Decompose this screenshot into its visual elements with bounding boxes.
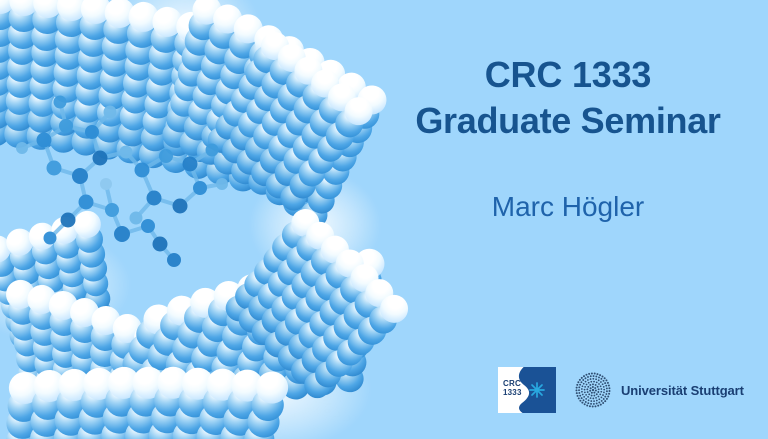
lipid-bead (58, 259, 88, 289)
lipid-bead (245, 403, 283, 439)
membrane-layer (0, 0, 420, 439)
lipid-bead (6, 407, 39, 439)
lipid-bead (193, 324, 230, 361)
lipid-bead (230, 145, 261, 176)
lipid-bead (143, 394, 175, 426)
lipid-bead (352, 81, 391, 120)
lipid-bead (70, 298, 99, 327)
lipid-bead (339, 92, 378, 131)
lipid-bead (143, 435, 178, 439)
lipid-bead (234, 112, 266, 144)
lipid-bead (268, 308, 303, 343)
lipid-bead (170, 418, 206, 439)
lipid-bead (123, 384, 160, 421)
lipid-bead (216, 72, 249, 105)
lipid-bead (241, 52, 277, 88)
lipid-bead (290, 291, 328, 329)
lipid-bead (328, 308, 366, 346)
lipid-bead (289, 91, 327, 129)
lipid-bead (186, 283, 225, 322)
lipid-bead (101, 30, 133, 62)
lipid-bead (243, 45, 277, 79)
lipid-chain (234, 368, 292, 439)
lipid-bead (0, 17, 14, 47)
lipid-bead (264, 324, 299, 359)
lipid-bead (170, 387, 205, 422)
lipid-bead (96, 390, 133, 427)
artwork-glow (180, 330, 370, 439)
lipid-bead (0, 101, 11, 129)
lipid-bead (212, 73, 247, 108)
lipid-bead (103, 375, 141, 413)
lipid-bead (260, 327, 296, 363)
lipid-bead (265, 52, 303, 90)
lipid-bead (83, 284, 112, 313)
lipid-chain (118, 364, 167, 439)
lipid-bead (70, 331, 98, 359)
lipid-bead (293, 155, 330, 192)
lipid-bead (71, 396, 98, 423)
lipid-chain (198, 270, 271, 411)
lipid-bead (280, 303, 317, 340)
lipid-bead (285, 58, 322, 95)
lipid-bead (249, 79, 286, 116)
lipid-chain (171, 276, 248, 417)
lipid-chain (263, 78, 361, 200)
lipid-bead (287, 129, 324, 166)
lipid-bead (90, 321, 120, 351)
lipid-bead (319, 300, 353, 334)
lipid-chain (70, 298, 99, 433)
lipid-bead (185, 133, 216, 164)
lipid-bead (71, 363, 99, 391)
lipid-bead (202, 33, 237, 68)
lipid-bead (197, 382, 232, 417)
lipid-bead (306, 366, 338, 398)
lipid-bead (332, 68, 371, 107)
lipid-bead (143, 393, 179, 429)
lipid-bead (33, 349, 63, 379)
lipid-bead (233, 68, 270, 105)
lipid-bead (272, 291, 308, 327)
lipid-bead (230, 11, 266, 47)
lipid-bead (213, 334, 249, 370)
lipid-bead (90, 337, 119, 366)
lipid-bead (36, 381, 65, 410)
lipid-bead (286, 171, 321, 206)
lipid-bead (211, 105, 243, 137)
lipid-bead (119, 434, 149, 439)
lipid-bead (2, 305, 33, 336)
lipid-bead (280, 73, 317, 110)
lipid-bead (50, 107, 79, 136)
lipid-bead (211, 109, 246, 144)
lipid-bead (169, 60, 201, 92)
lipid-bead (281, 259, 318, 296)
artwork-glow (0, 230, 130, 340)
lipid-bead (117, 345, 156, 384)
lipid-chain (225, 264, 294, 406)
presentation-slide: CRC 1333 Graduate Seminar Marc Högler CR… (0, 0, 768, 439)
lipid-bead (149, 400, 185, 436)
lipid-bead (239, 123, 274, 158)
lipid-bead (0, 0, 16, 15)
lipid-bead (171, 71, 204, 104)
lipid-bead (209, 276, 248, 315)
lipid-bead (121, 67, 152, 98)
lipid-bead (230, 278, 266, 314)
lipid-bead (110, 360, 148, 398)
lipid-chain (137, 5, 184, 164)
lipid-bead (276, 216, 315, 255)
lipid-bead (222, 22, 256, 56)
lipid-chain (26, 284, 68, 421)
lipid-chain (211, 21, 287, 174)
lipid-bead (5, 103, 34, 132)
lipid-bead (105, 393, 135, 423)
lipid-bead (7, 294, 39, 326)
lipid-bead (317, 154, 354, 191)
lipid-bead (284, 168, 320, 204)
lipid-bead (103, 0, 136, 29)
lipid-bead (109, 345, 140, 376)
lipid-bead (286, 266, 324, 304)
lipid-chain (72, 366, 117, 439)
dotted-circle-icon (574, 371, 612, 409)
lipid-bead (189, 99, 221, 131)
lipid-bead (325, 267, 360, 302)
lipid-bead (303, 142, 340, 179)
lipid-bead (39, 279, 69, 309)
lipid-bead (3, 226, 36, 259)
lipid-bead (121, 417, 151, 439)
lipid-chain (164, 365, 217, 439)
lipid-bead (108, 361, 138, 391)
lipid-bead (193, 64, 227, 98)
lipid-bead (249, 93, 284, 128)
lipid-bead (210, 1, 246, 37)
membrane-layer (0, 0, 420, 439)
lipid-bead (181, 111, 214, 144)
lipid-bead (167, 435, 203, 439)
lipid-bead (176, 371, 212, 407)
lipid-bead (277, 275, 313, 311)
lipid-bead (272, 39, 310, 77)
lipid-bead (310, 168, 346, 204)
lipid-bead (95, 114, 125, 144)
lipid-bead (197, 48, 231, 82)
crc-1333-logo: CRC 1333 (498, 367, 556, 413)
lipid-bead (328, 250, 363, 285)
lipid-bead (181, 355, 217, 391)
lipid-bead (72, 412, 99, 439)
lipid-bead (214, 89, 246, 121)
lipid-bead (120, 435, 155, 439)
lipid-bead (220, 39, 253, 72)
lipid-bead (126, 17, 158, 49)
lipid-bead (123, 51, 155, 83)
lipid-bead (315, 230, 354, 269)
lipid-bead (0, 291, 30, 323)
lipid-bead (299, 367, 335, 403)
lipid-bead (286, 353, 322, 389)
lipid-bead (124, 34, 156, 66)
lipid-bead (0, 51, 13, 81)
lipid-bead (150, 346, 183, 379)
lipid-bead (268, 160, 303, 195)
lipid-bead (130, 364, 167, 401)
lipid-bead (310, 356, 347, 393)
lipid-bead (167, 371, 201, 405)
lipid-bead (231, 83, 266, 118)
lipid-bead (216, 129, 250, 163)
lipid-bead (205, 155, 236, 186)
lipid-bead (297, 77, 335, 115)
lipid-bead (228, 286, 266, 324)
lipid-chain (279, 254, 340, 396)
lipid-bead (160, 144, 190, 174)
lipid-bead (167, 87, 200, 120)
lipid-bead (241, 62, 274, 95)
lipid-bead (63, 289, 92, 318)
crc-logo-text: CRC 1333 (503, 379, 522, 397)
lipid-bead (300, 279, 338, 317)
lipid-bead (287, 115, 323, 151)
lipid-bead (229, 361, 264, 396)
lipid-bead (51, 339, 80, 368)
lipid-bead (291, 229, 330, 268)
lipid-bead (293, 100, 330, 137)
lipid-bead (364, 300, 403, 339)
lipid-bead (72, 209, 102, 239)
lipid-chain (302, 289, 414, 400)
lipid-bead (224, 384, 262, 422)
lipid-chain (4, 278, 51, 415)
lipid-chain (25, 0, 64, 145)
lipid-bead (73, 93, 103, 123)
lipid-bead (292, 156, 328, 192)
lipid-bead (164, 387, 197, 420)
lipid-bead (149, 377, 185, 413)
lipid-bead (70, 314, 99, 343)
lipid-bead (352, 247, 387, 282)
lipid-bead (324, 282, 363, 321)
lipid-bead (51, 74, 81, 104)
lipid-bead (198, 308, 236, 346)
lipid-bead (100, 47, 131, 78)
lipid-bead (0, 232, 14, 265)
lipid-bead (0, 118, 10, 146)
lipid-bead (233, 106, 269, 142)
lipid-chain (177, 1, 246, 155)
lipid-bead (304, 305, 342, 343)
lipid-bead (321, 117, 359, 155)
lipid-chain (236, 216, 340, 334)
lipid-bead (35, 365, 65, 395)
lipid-bead (226, 98, 261, 133)
lipid-chain (289, 274, 399, 387)
lipid-chain (2, 371, 42, 439)
lipid-bead (305, 70, 343, 108)
lipid-bead (317, 319, 355, 357)
lipid-bead (187, 116, 218, 147)
lipid-chain (306, 250, 363, 392)
lipid-bead (272, 253, 310, 291)
lipid-bead (180, 299, 219, 338)
lipid-bead (306, 64, 345, 103)
lipid-bead (262, 265, 299, 302)
slide-subtitle: Graduate Seminar (392, 98, 744, 144)
lipid-bead (197, 401, 234, 438)
lipid-bead (30, 235, 62, 267)
lipid-chain (144, 283, 225, 423)
lipid-bead (256, 302, 293, 339)
lipid-bead (55, 7, 87, 39)
lipid-bead (243, 290, 280, 327)
lipid-bead (7, 389, 41, 423)
lipid-bead (0, 247, 18, 280)
lipid-bead (273, 78, 311, 116)
lipid-bead (138, 139, 168, 169)
lipid-bead (218, 318, 255, 355)
lipid-bead (296, 254, 335, 293)
lipid-bead (22, 299, 53, 330)
lipid-bead (250, 21, 287, 58)
lipid-bead (51, 90, 81, 120)
lipid-bead (248, 253, 285, 290)
lipid-bead (30, 405, 64, 439)
lipid-bead (322, 283, 357, 318)
membrane-layer (0, 0, 420, 439)
lipid-bead (89, 406, 126, 439)
lipid-bead (6, 69, 35, 98)
lipid-bead (286, 203, 325, 242)
lipid-bead (97, 80, 128, 111)
lipid-bead (314, 293, 352, 331)
lipid-bead (26, 314, 56, 344)
lipid-bead (148, 362, 181, 395)
lipid-bead (279, 186, 314, 221)
membrane-layer (0, 0, 420, 439)
lipid-bead (293, 317, 330, 354)
lipid-bead (198, 16, 232, 50)
lipid-bead (155, 361, 192, 398)
lipid-bead (244, 108, 279, 143)
lipid-bead (162, 291, 202, 331)
lipid-chain (86, 305, 121, 439)
lipid-bead (126, 369, 157, 400)
lipid-bead (196, 32, 229, 65)
lipid-bead (207, 139, 238, 170)
lipid-bead (319, 97, 357, 135)
lipid-bead (221, 114, 255, 148)
lipid-bead (9, 0, 40, 16)
lipid-bead (221, 291, 257, 327)
lipid-bead (116, 134, 146, 164)
lipid-bead (232, 144, 267, 179)
lipid-bead (79, 384, 114, 419)
lipid-chain (234, 51, 328, 175)
lipid-bead (171, 44, 204, 77)
lipid-bead (270, 315, 307, 352)
lipid-bead (153, 330, 187, 364)
lipid-bead (141, 105, 172, 136)
lipid-bead (297, 287, 332, 322)
lipid-bead (289, 51, 328, 90)
lipid-bead (54, 23, 85, 54)
lipid-bead (294, 303, 329, 338)
lipid-chain (227, 29, 280, 188)
lipid-bead (175, 10, 208, 43)
lipid-bead (224, 377, 258, 411)
lipid-bead (276, 278, 314, 316)
lipid-bead (55, 404, 83, 432)
university-stuttgart-logo: Universität Stuttgart (574, 371, 744, 409)
lipid-bead (148, 39, 180, 71)
lipid-bead (29, 54, 59, 84)
lipid-bead (15, 270, 47, 302)
lipid-bead (103, 383, 139, 419)
lipid-bead (262, 175, 297, 210)
lipid-bead (28, 422, 61, 439)
ball-and-stick-molecule (14, 78, 244, 268)
lipid-bead (60, 274, 90, 304)
lipid-bead (136, 353, 174, 391)
lipid-bead (116, 399, 152, 435)
lipid-bead (31, 333, 61, 363)
presenter-name: Marc Högler (392, 190, 744, 224)
lipid-bead (194, 49, 227, 82)
lipid-bead (334, 270, 373, 309)
lipid-bead (154, 434, 186, 439)
lipid-bead (313, 333, 346, 366)
lipid-chain (25, 369, 67, 439)
lipid-bead (256, 104, 293, 141)
lipid-bead (227, 162, 258, 193)
lipid-bead (101, 400, 136, 435)
lipid-bead (261, 168, 297, 204)
lipid-bead (347, 280, 381, 314)
lipid-bead (48, 291, 78, 321)
lipid-bead (241, 420, 278, 439)
lipid-bead (280, 104, 317, 141)
lipid-chain (194, 11, 266, 164)
lipid-chain (92, 0, 136, 155)
lipid-bead (29, 316, 60, 347)
lipid-chain (48, 0, 88, 148)
lipid-bead (177, 127, 209, 159)
lipid-bead (77, 401, 112, 436)
lipid-bead (246, 29, 280, 63)
lipid-bead (241, 93, 278, 130)
lipid-bead (271, 32, 308, 69)
lipid-bead (9, 310, 41, 342)
lipid-chain (187, 365, 241, 439)
lipid-bead (103, 426, 132, 439)
lipid-bead (77, 239, 107, 269)
lipid-bead (128, 353, 160, 385)
lipid-bead (131, 315, 171, 355)
lipid-bead (130, 337, 162, 369)
lipid-bead (127, 1, 160, 34)
lipid-chain (3, 0, 40, 143)
lipid-bead (192, 66, 224, 98)
lipid-bead (305, 242, 344, 281)
lipid-bead (29, 71, 59, 101)
lipid-bead (146, 55, 178, 87)
lipid-chain (204, 22, 256, 181)
lipid-bead (78, 26, 109, 57)
